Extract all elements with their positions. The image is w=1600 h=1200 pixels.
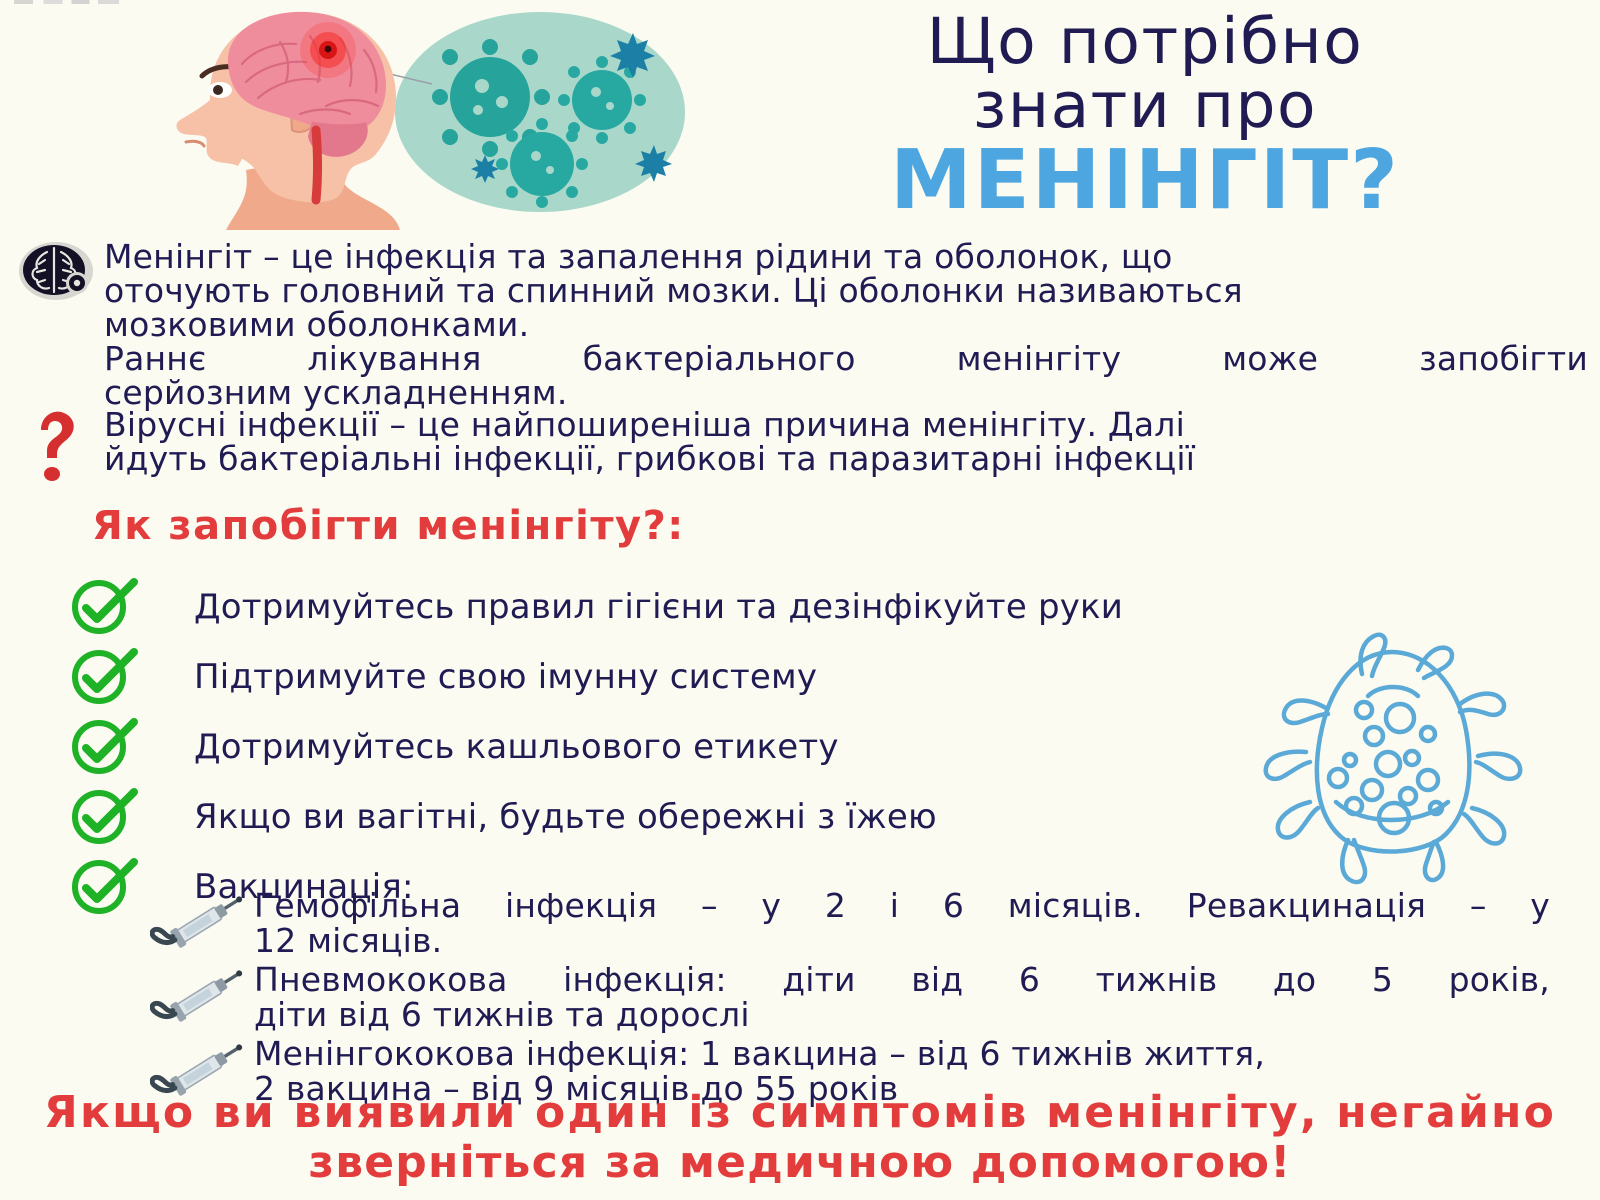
syringe-icon — [150, 966, 254, 1028]
intro-line: Менінгіт – це інфекція та запалення ріди… — [104, 240, 1588, 274]
vaccine-text: Пневмококова інфекція: діти від 6 тижнів… — [254, 962, 1550, 1032]
intro-text-meningitis: Менінгіт – це інфекція та запалення ріди… — [104, 240, 1588, 410]
list-item: Пневмококова інфекція: діти від 6 тижнів… — [150, 962, 1550, 1032]
intro-line: Вірусні інфекції – це найпоширеніша прич… — [104, 408, 1588, 442]
intro-text-causes: Вірусні інфекції – це найпоширеніша прич… — [104, 408, 1588, 476]
vaccine-line: Пневмококова інфекція: діти від 6 тижнів… — [254, 962, 1550, 997]
check-circle-icon — [68, 857, 142, 917]
list-item: Якщо ви вагітні, будьте обережні з їжею — [68, 782, 1228, 852]
footer-line-1: Якщо ви виявили один із симптомів менінг… — [40, 1088, 1560, 1138]
question-mark-icon — [8, 408, 104, 484]
vaccine-text: Гемофільна інфекція – у 2 і 6 місяців. Р… — [254, 888, 1550, 958]
footer-warning: Якщо ви виявили один із симптомів менінг… — [40, 1088, 1560, 1188]
bacteria-cell-illustration — [1222, 612, 1562, 912]
poster-title: Що потрібно знати про МЕНІНГІТ? — [700, 8, 1590, 224]
title-line-1: Що потрібно — [700, 8, 1590, 76]
title-line-2: знати про — [700, 72, 1590, 140]
list-item: Гемофільна інфекція – у 2 і 6 місяців. Р… — [150, 888, 1550, 958]
check-circle-icon — [68, 647, 142, 707]
syringe-icon — [150, 892, 254, 954]
intro-line: мозковими оболонками. — [104, 308, 1588, 342]
list-item: Дотримуйтесь правил гігієни та дезінфіку… — [68, 572, 1228, 642]
virus-cluster-illustration — [395, 12, 685, 212]
vaccine-line: 12 місяців. — [254, 923, 1550, 958]
intro-block-causes: Вірусні інфекції – це найпоширеніша прич… — [8, 408, 1588, 484]
poster-header: Що потрібно знати про МЕНІНГІТ? — [0, 0, 1600, 232]
title-highlight: МЕНІНГІТ? — [700, 138, 1590, 224]
check-circle-icon — [68, 787, 142, 847]
head-brain-illustration — [177, 12, 400, 230]
list-item-label: Дотримуйтесь правил гігієни та дезінфіку… — [142, 589, 1228, 625]
vaccine-line: діти від 6 тижнів та дорослі — [254, 997, 1550, 1032]
list-item: Підтримуйте свою імунну систему — [68, 642, 1228, 712]
meningitis-infographic-poster: Що потрібно знати про МЕНІНГІТ? — [0, 0, 1600, 1200]
intro-line: Раннє лікування бактеріального менінгіту… — [104, 342, 1588, 376]
footer-line-2: зверніться за медичною допомогою! — [40, 1138, 1560, 1188]
list-item-label: Якщо ви вагітні, будьте обережні з їжею — [142, 799, 1228, 835]
check-circle-icon — [68, 577, 142, 637]
intro-line: оточують головний та спинний мозки. Ці о… — [104, 274, 1588, 308]
vaccine-line: Гемофільна інфекція – у 2 і 6 місяців. Р… — [254, 888, 1550, 923]
brain-icon — [8, 240, 104, 302]
list-item: Дотримуйтесь кашльового етикету — [68, 712, 1228, 782]
prevention-heading: Як запобігти менінгіту?: — [92, 503, 685, 549]
intro-line: йдуть бактеріальні інфекції, грибкові та… — [104, 442, 1588, 476]
check-circle-icon — [68, 717, 142, 777]
list-item-label: Дотримуйтесь кашльового етикету — [142, 729, 1228, 765]
list-item-label: Підтримуйте свою імунну систему — [142, 659, 1228, 695]
intro-block-meningitis: Менінгіт – це інфекція та запалення ріди… — [8, 240, 1588, 410]
prevention-list: Дотримуйтесь правил гігієни та дезінфіку… — [68, 572, 1228, 922]
header-illustration — [150, 2, 690, 230]
vaccine-schedule-list: Гемофільна інфекція – у 2 і 6 місяців. Р… — [150, 888, 1550, 1110]
vaccine-line: Менінгококова інфекція: 1 вакцина – від … — [254, 1036, 1550, 1071]
